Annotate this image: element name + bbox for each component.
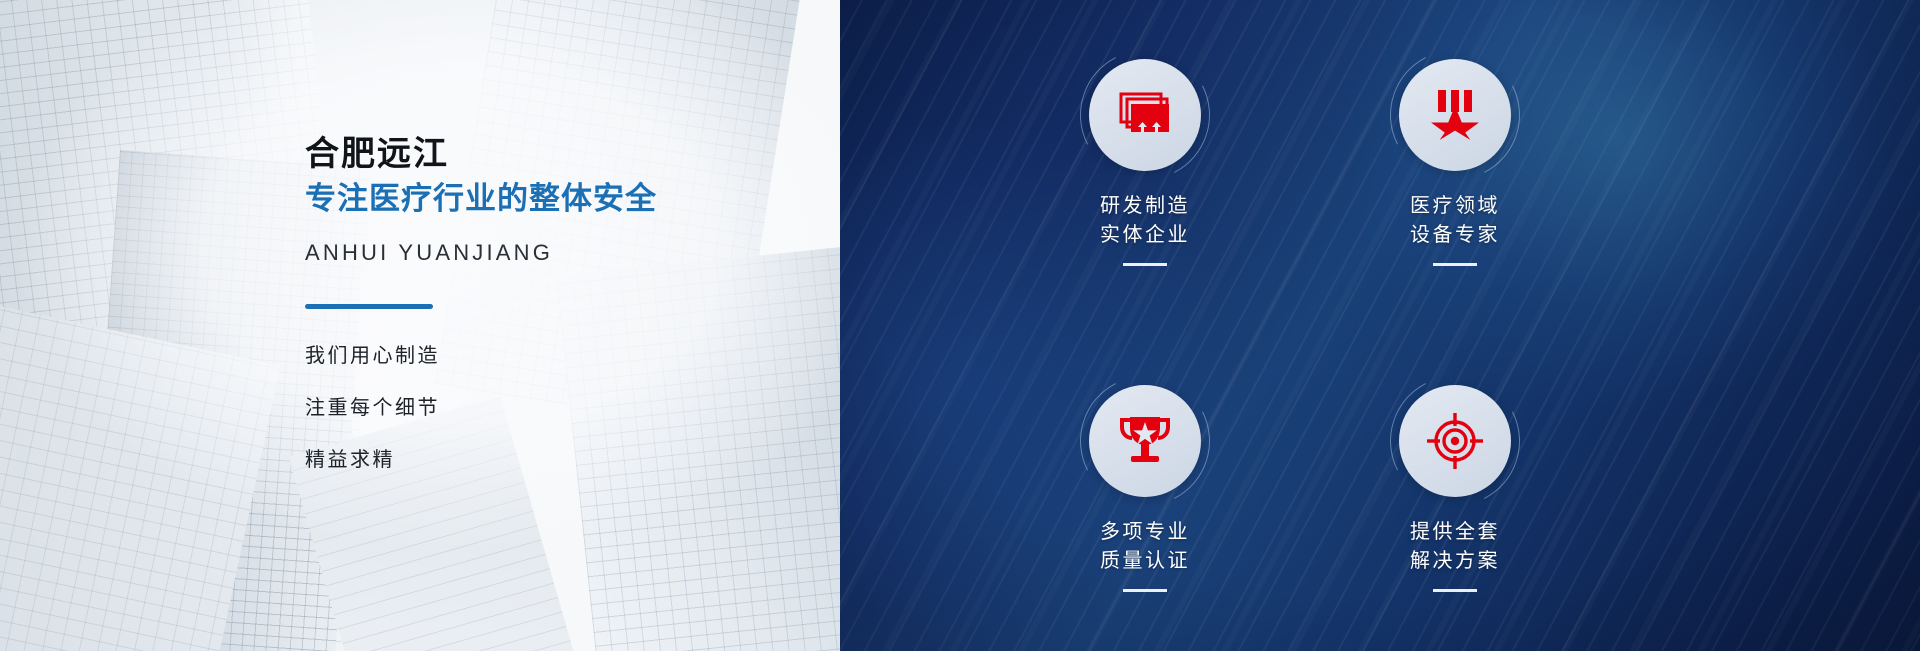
icon-container xyxy=(1089,385,1201,497)
icon-container xyxy=(1399,59,1511,171)
slogan-item-3: 精益求精 xyxy=(305,449,775,469)
feature-underline xyxy=(1123,589,1167,592)
feature-label: 提供全套 解决方案 xyxy=(1410,517,1500,575)
feature-label-line1: 多项专业 xyxy=(1100,517,1190,546)
feature-underline xyxy=(1433,589,1477,592)
feature-item-medical-expert[interactable]: 医疗领域 设备专家 xyxy=(1300,0,1610,326)
feature-label-line1: 研发制造 xyxy=(1100,191,1190,220)
decorative-ring xyxy=(1063,33,1227,197)
feature-label-line1: 医疗领域 xyxy=(1410,191,1500,220)
decorative-ring xyxy=(1373,33,1537,197)
feature-label-line1: 提供全套 xyxy=(1410,517,1500,546)
feature-label-line2: 实体企业 xyxy=(1100,220,1190,249)
slogan-list: 我们用心制造 注重每个细节 精益求精 xyxy=(305,345,775,469)
feature-label-line2: 解决方案 xyxy=(1410,546,1500,575)
decorative-ring xyxy=(1373,359,1537,523)
slogan-item-1: 我们用心制造 xyxy=(305,345,775,365)
decorative-ring xyxy=(1063,359,1227,523)
feature-item-rd-manufacturing[interactable]: 研发制造 实体企业 xyxy=(990,0,1300,326)
feature-label: 多项专业 质量认证 xyxy=(1100,517,1190,575)
feature-label: 医疗领域 设备专家 xyxy=(1410,191,1500,249)
tagline-cn: 专注医疗行业的整体安全 xyxy=(305,179,775,219)
promo-banner: 合肥远江 专注医疗行业的整体安全 ANHUI YUANJIANG 我们用心制造 … xyxy=(0,0,1920,651)
feature-label-line2: 设备专家 xyxy=(1410,220,1500,249)
feature-item-quality-certification[interactable]: 多项专业 质量认证 xyxy=(990,326,1300,651)
headline-block: 合肥远江 专注医疗行业的整体安全 ANHUI YUANJIANG 我们用心制造 … xyxy=(305,133,775,469)
feature-label-line2: 质量认证 xyxy=(1100,546,1190,575)
company-name-en: ANHUI YUANJIANG xyxy=(305,240,775,266)
feature-grid: 研发制造 实体企业 xyxy=(990,0,1610,651)
feature-item-total-solution[interactable]: 提供全套 解决方案 xyxy=(1300,326,1610,651)
icon-container xyxy=(1089,59,1201,171)
slogan-item-2: 注重每个细节 xyxy=(305,397,775,417)
feature-underline xyxy=(1123,263,1167,266)
company-name-cn: 合肥远江 xyxy=(305,133,775,175)
icon-container xyxy=(1399,385,1511,497)
feature-label: 研发制造 实体企业 xyxy=(1100,191,1190,249)
feature-underline xyxy=(1433,263,1477,266)
right-feature-panel: 研发制造 实体企业 xyxy=(840,0,1920,651)
left-photo-panel: 合肥远江 专注医疗行业的整体安全 ANHUI YUANJIANG 我们用心制造 … xyxy=(0,0,840,651)
accent-divider xyxy=(305,304,433,309)
